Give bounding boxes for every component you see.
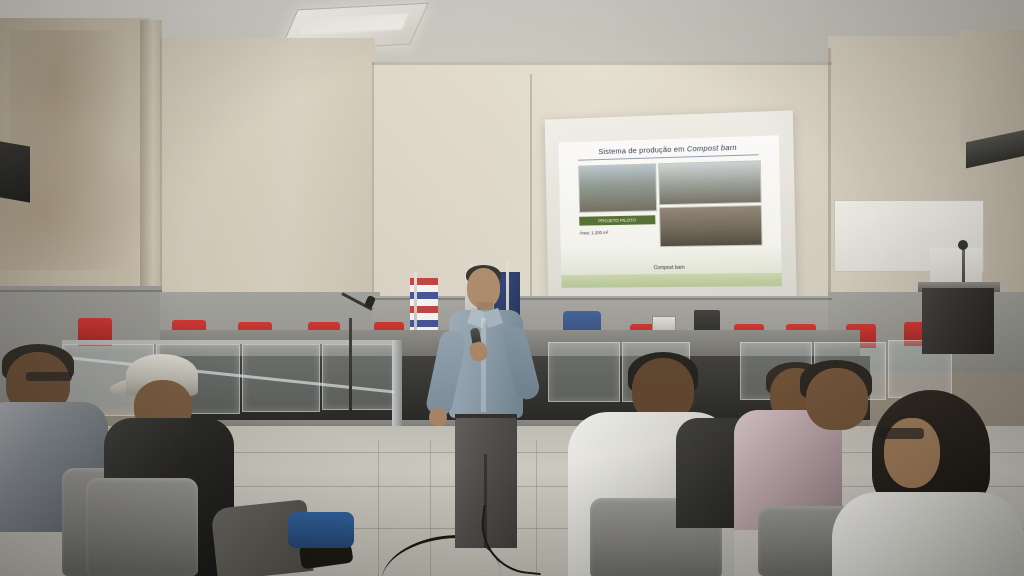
slide-photo-top-right bbox=[658, 160, 762, 205]
audience-member-body bbox=[832, 492, 1024, 576]
audience-chair-blue bbox=[288, 512, 354, 548]
wall-seam bbox=[372, 62, 374, 324]
slide-caption-text: PROJETO PILOTO bbox=[579, 215, 655, 225]
audience-chair bbox=[86, 478, 198, 576]
podium bbox=[922, 288, 994, 354]
wainscot-trim bbox=[0, 290, 162, 292]
wall-seam bbox=[160, 38, 162, 328]
slide-photo-left bbox=[578, 163, 657, 213]
wall-seam bbox=[828, 48, 831, 328]
slide-green-band bbox=[561, 273, 782, 288]
slide-title-italic: Compost barn bbox=[687, 143, 737, 154]
glass-barrier-panel bbox=[322, 344, 396, 410]
mic-stand-pole bbox=[349, 318, 352, 416]
slide-body-text: Área: 1.200 m² bbox=[579, 229, 655, 236]
presentation-slide: Sistema de produção em Compost barn PROJ… bbox=[559, 135, 782, 288]
presenter-shirt-placket bbox=[481, 318, 486, 412]
presenter-hand-left bbox=[429, 408, 447, 426]
floor-tile-line bbox=[378, 440, 379, 576]
glass-barrier-panel bbox=[548, 342, 620, 402]
photo-scene: Sistema de produção em Compost barn PROJ… bbox=[0, 0, 1024, 576]
slide-title-prefix: Sistema de produção em bbox=[598, 144, 687, 156]
glasses-icon bbox=[26, 372, 72, 381]
microphone-icon bbox=[958, 240, 968, 250]
wall-middle bbox=[160, 38, 375, 328]
podium-microphone-stand bbox=[962, 246, 965, 286]
microphone-cable bbox=[477, 505, 547, 575]
glasses-icon bbox=[878, 428, 924, 439]
mic-stand-base bbox=[338, 410, 364, 416]
wall-speaker-icon bbox=[0, 141, 30, 202]
wall-pillar bbox=[140, 20, 162, 320]
presenter bbox=[425, 268, 545, 573]
projection-screen: Sistema de produção em Compost barn PROJ… bbox=[545, 110, 797, 305]
slide-photo-caption: PROJETO PILOTO bbox=[579, 215, 655, 225]
slide-photo-bottom-right bbox=[659, 205, 763, 247]
slide-footer-text: Compost barn bbox=[561, 264, 782, 272]
wall-seam-top bbox=[372, 62, 832, 65]
